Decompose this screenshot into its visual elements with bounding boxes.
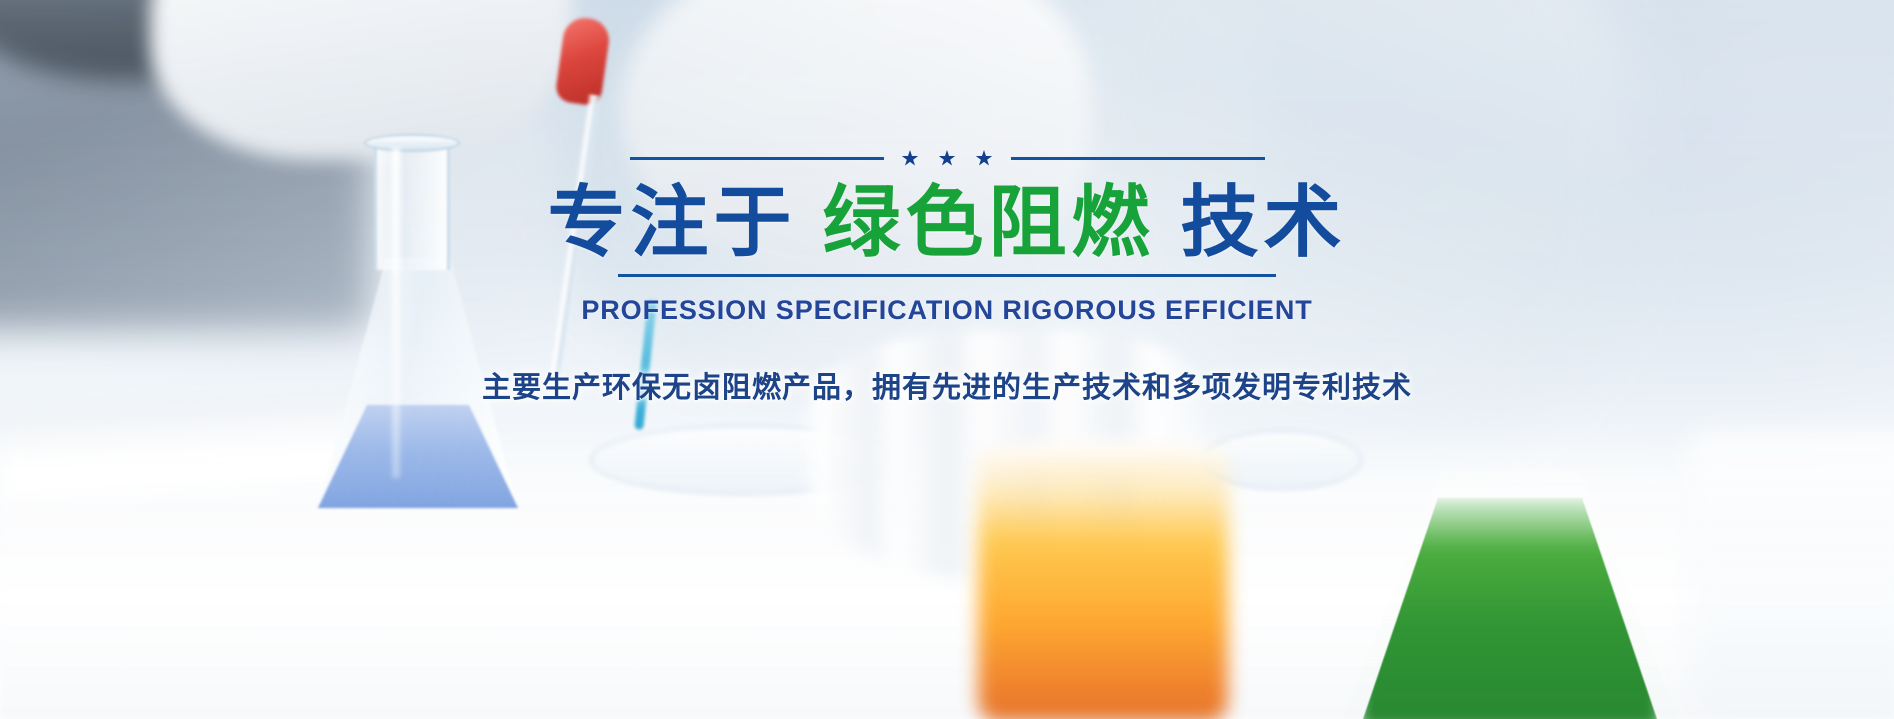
star-icon xyxy=(976,150,993,167)
decorative-rule-top xyxy=(618,150,1276,167)
star-icon xyxy=(902,150,919,167)
decorative-rule-bottom xyxy=(618,274,1276,277)
rule-segment-right xyxy=(1011,157,1265,160)
headline-part-3: 技术 xyxy=(1181,178,1347,266)
page-title: 专注于绿色阻燃技术 xyxy=(0,179,1894,266)
headline-part-2: 绿色阻燃 xyxy=(822,178,1154,266)
star-group xyxy=(902,150,993,167)
rule-segment-left xyxy=(630,157,884,160)
hero-content: 专注于绿色阻燃技术 PROFESSION SPECIFICATION RIGOR… xyxy=(0,150,1894,406)
hero-banner: 专注于绿色阻燃技术 PROFESSION SPECIFICATION RIGOR… xyxy=(0,0,1894,719)
headline-part-1: 专注于 xyxy=(547,178,796,266)
tagline: 主要生产环保无卤阻燃产品，拥有先进的生产技术和多项发明专利技术 xyxy=(0,364,1894,406)
subtitle: PROFESSION SPECIFICATION RIGOROUS EFFICI… xyxy=(0,295,1894,326)
star-icon xyxy=(939,150,956,167)
